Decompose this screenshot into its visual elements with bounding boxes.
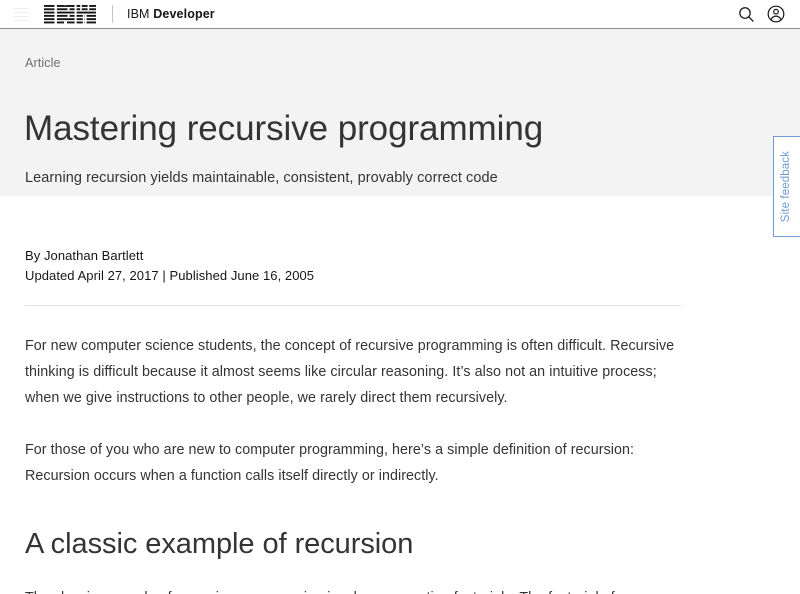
site-feedback-label: Site feedback [781, 151, 793, 222]
article-paragraph-3: The classic example of recursive program… [25, 585, 677, 594]
masthead-divider [112, 5, 113, 23]
byline-dates: Updated April 27, 2017 | Published June … [25, 266, 800, 286]
search-icon[interactable] [732, 0, 761, 29]
article-paragraph-1: For new computer science students, the c… [25, 333, 677, 411]
article-text-block-2: The classic example of recursive program… [0, 585, 700, 594]
brand-developer-label: Developer [153, 7, 215, 21]
section-heading: A classic example of recursion [0, 489, 800, 562]
hamburger-bar [14, 16, 29, 17]
hamburger-bar [14, 20, 29, 21]
article-page: IBM Developer Article Mastering recursiv… [0, 0, 800, 594]
masthead-brand-title[interactable]: IBM Developer [127, 7, 215, 21]
brand-ibm-label: IBM [127, 7, 150, 21]
byline-author: By Jonathan Bartlett [25, 246, 800, 266]
user-account-icon[interactable] [761, 0, 790, 29]
ibm-logo[interactable] [44, 4, 96, 25]
hamburger-bar [14, 12, 29, 13]
hamburger-bar [14, 8, 29, 9]
page-title: Mastering recursive programming [24, 109, 543, 149]
byline: By Jonathan Bartlett Updated April 27, 2… [0, 196, 800, 285]
byline-divider [25, 305, 681, 306]
content-type-kicker: Article [25, 56, 61, 70]
paragraph-3-text-part-1: The classic example of recursive program… [25, 590, 633, 594]
hamburger-menu-icon[interactable] [7, 0, 35, 28]
article-text-block: For new computer science students, the c… [0, 333, 700, 489]
article-paragraph-2: For those of you who are new to computer… [25, 437, 677, 489]
page-subtitle: Learning recursion yields maintainable, … [25, 168, 498, 188]
article-body: By Jonathan Bartlett Updated April 27, 2… [0, 196, 800, 594]
masthead-header: IBM Developer [0, 0, 800, 29]
hero-banner: Article Mastering recursive programming … [0, 29, 800, 196]
site-feedback-tab[interactable]: Site feedback [773, 136, 800, 237]
